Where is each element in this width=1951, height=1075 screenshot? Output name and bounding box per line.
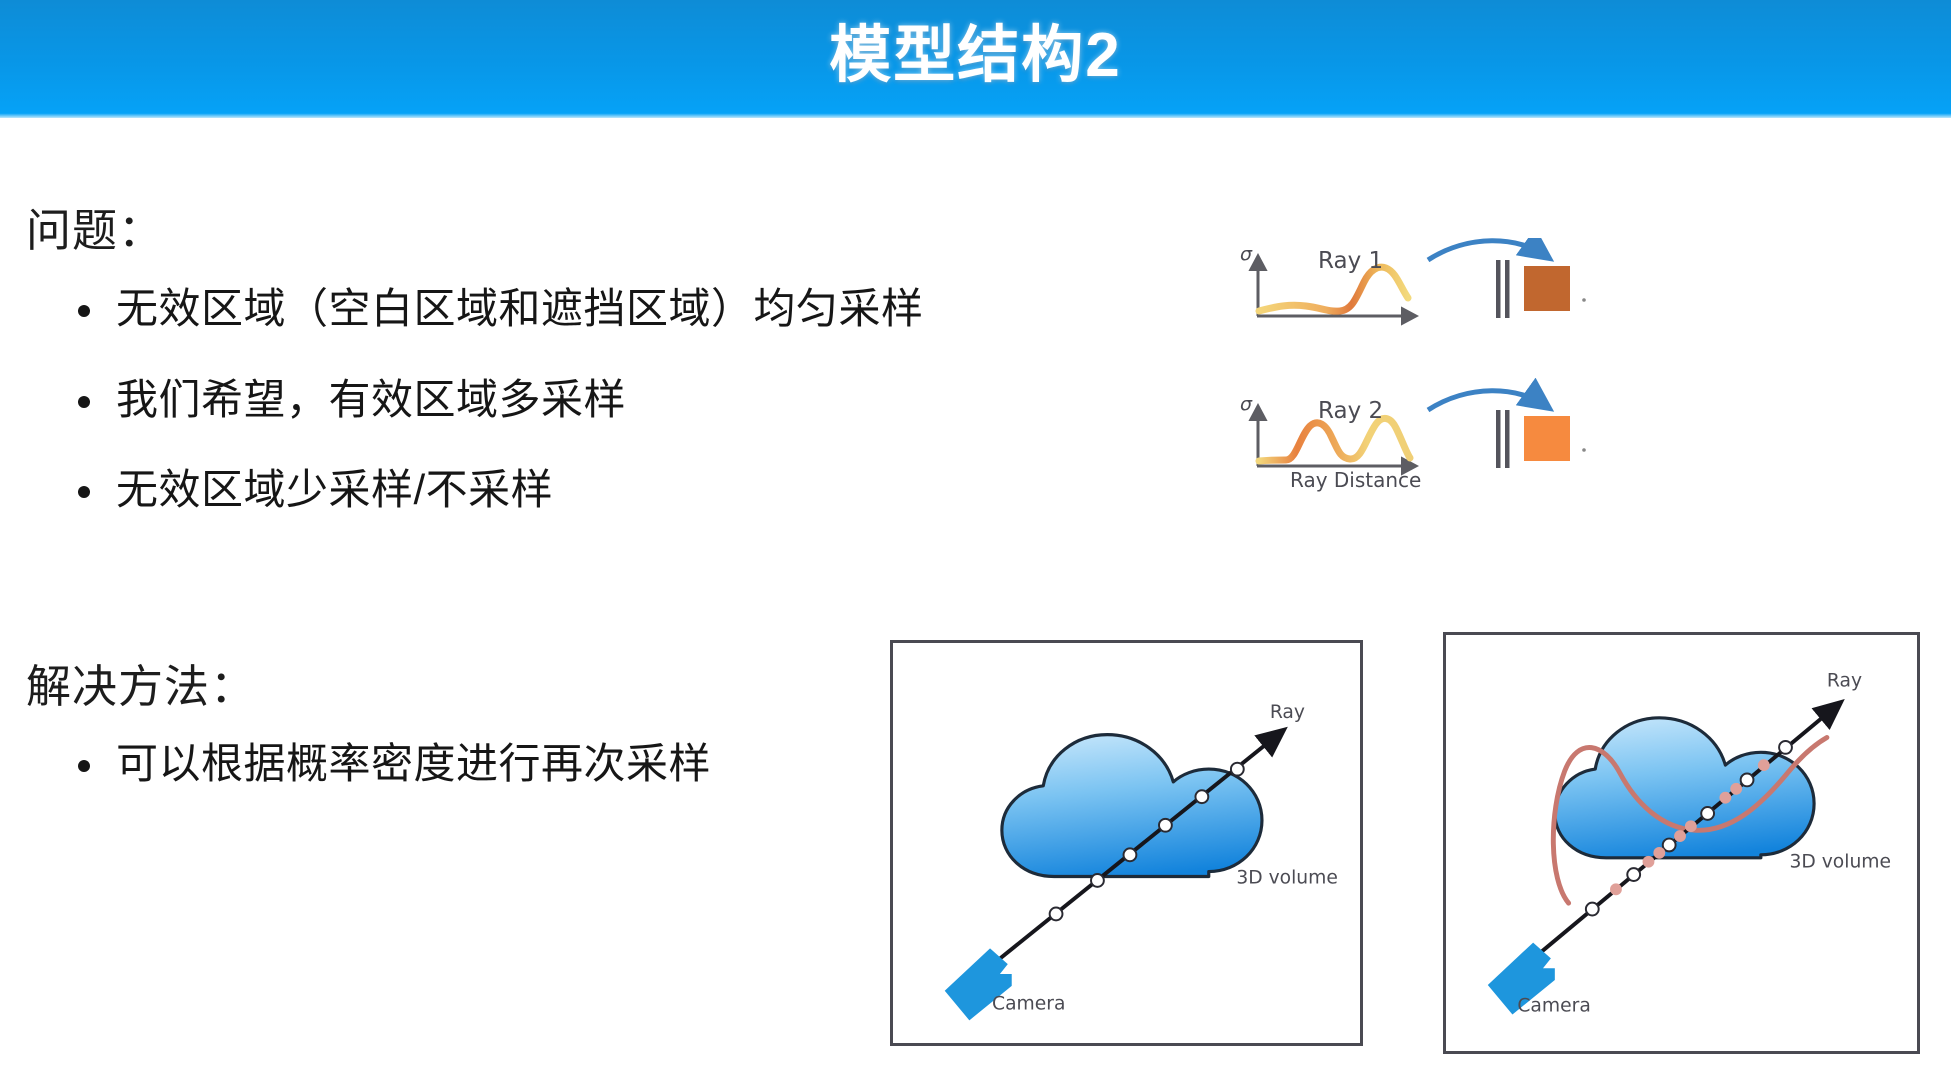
ray-label: Ray <box>1827 670 1862 691</box>
bullet-dot-icon <box>78 486 90 498</box>
list-item-label: 无效区域（空白区域和遮挡区域）均匀采样 <box>116 283 924 336</box>
list-item: 我们希望，有效区域多采样 <box>78 374 924 427</box>
list-item-label: 我们希望，有效区域多采样 <box>116 374 626 427</box>
list-item: 无效区域少采样/不采样 <box>78 464 924 517</box>
ray-curve-label-2: Ray 2 <box>1318 398 1383 424</box>
ray-density-figure: σ Ray 1 σ Ray 2 Ray Dista <box>1228 238 1648 538</box>
camera-label: Camera <box>992 994 1065 1015</box>
blue-arrow-2 <box>1428 391 1546 410</box>
list-item-label: 无效区域少采样/不采样 <box>116 464 553 517</box>
parallel-bars-1 <box>1496 260 1510 318</box>
bullet-dot-icon <box>78 760 90 772</box>
ray-row-1: σ Ray 1 <box>1240 241 1586 318</box>
parallel-bars-2 <box>1496 410 1510 468</box>
volume-label: 3D volume <box>1236 867 1338 888</box>
sigma-axis-label-1: σ <box>1240 243 1253 265</box>
slide: 模型结构2 问题： 无效区域（空白区域和遮挡区域）均匀采样 我们希望，有效区域多… <box>0 0 1951 1075</box>
camera-label: Camera <box>1517 996 1590 1017</box>
list-item: 可以根据概率密度进行再次采样 <box>78 738 711 791</box>
sigma-axis-label-2: σ <box>1240 393 1253 415</box>
list-item-label: 可以根据概率密度进行再次采样 <box>116 738 711 791</box>
volume-label: 3D volume <box>1789 852 1891 873</box>
problem-heading: 问题： <box>26 194 164 259</box>
x-axis-label-2: Ray Distance <box>1290 468 1421 492</box>
list-item: 无效区域（空白区域和遮挡区域）均匀采样 <box>78 283 924 336</box>
ray-color-swatch-2 <box>1524 416 1570 461</box>
ray-color-swatch-1 <box>1524 266 1570 311</box>
solution-bullet-list: 可以根据概率密度进行再次采样 <box>78 738 711 829</box>
bullet-dot-icon <box>78 305 90 317</box>
text-content-column: 问题： 无效区域（空白区域和遮挡区域）均匀采样 我们希望，有效区域多采样 无效区… <box>0 118 900 1075</box>
volume-panel-fine: Camera Ray 3D volume <box>1443 632 1920 1054</box>
page-title: 模型结构2 <box>829 25 1121 87</box>
ray-label: Ray <box>1270 702 1305 723</box>
ray-curve-label-1: Ray 1 <box>1318 248 1383 274</box>
problem-bullet-list: 无效区域（空白区域和遮挡区域）均匀采样 我们希望，有效区域多采样 无效区域少采样… <box>78 283 924 555</box>
blue-arrow-1 <box>1428 241 1546 260</box>
ray-row-2: σ Ray 2 Ray Distance <box>1240 391 1586 492</box>
slide-header-banner: 模型结构2 <box>0 0 1951 118</box>
volume-panel-coarse: Camera Ray 3D volume <box>890 640 1363 1046</box>
solution-heading: 解决方法： <box>26 650 256 715</box>
bullet-dot-icon <box>78 396 90 408</box>
density-curve-2 <box>1259 418 1410 461</box>
